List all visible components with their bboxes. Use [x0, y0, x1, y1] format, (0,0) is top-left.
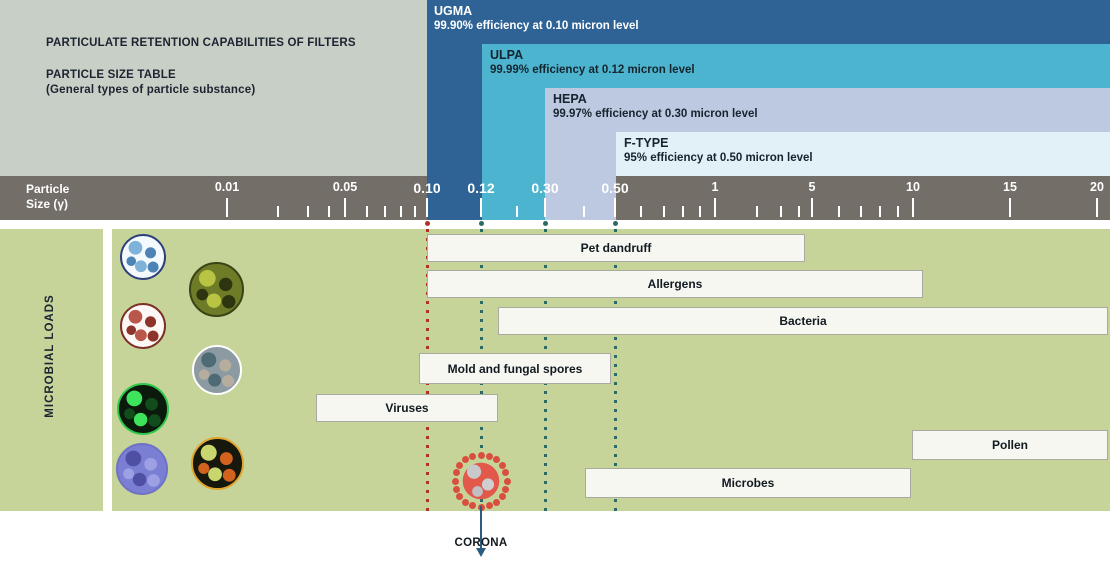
- protozoa-purple-icon: [116, 443, 168, 495]
- bacilli-red-icon: [120, 303, 166, 349]
- microbial-loads-sidebar: MICROBIAL LOADS: [0, 229, 103, 511]
- corona-spike: [462, 499, 469, 506]
- axis-tick-label-1: 1: [712, 180, 719, 194]
- axis-tick-label-0-30: 0.30: [531, 180, 558, 196]
- axis-tick-17: [699, 206, 701, 217]
- axis-segment-3: [616, 176, 1110, 220]
- axis-tick-24: [860, 206, 862, 217]
- axis-tick-30: [226, 198, 228, 217]
- axis-label-line2: Size (γ): [26, 197, 69, 212]
- range-bar-label: Pollen: [992, 438, 1028, 452]
- axis-tick-6: [384, 206, 386, 217]
- axis-tick-36: [714, 198, 716, 217]
- page-subtitle: PARTICLE SIZE TABLE: [46, 68, 416, 83]
- axis-tick-34: [544, 198, 546, 217]
- axis-tick-7: [400, 206, 402, 217]
- axis-tick-1: [277, 206, 279, 217]
- axis-tick-3: [328, 206, 330, 217]
- title-block: PARTICULATE RETENTION CAPABILITIES OF FI…: [46, 36, 416, 98]
- axis-label: Particle Size (γ): [26, 182, 69, 212]
- axis-label-line1: Particle: [26, 182, 69, 197]
- corona-spike: [499, 493, 506, 500]
- corona-spike: [493, 499, 500, 506]
- range-bar-viruses[interactable]: Viruses: [316, 394, 498, 422]
- corona-spike: [478, 452, 485, 459]
- corona-spike: [452, 478, 459, 485]
- corona-spike: [499, 462, 506, 469]
- filter-name-ulpa: ULPA: [490, 48, 1110, 63]
- filter-panel-ftype[interactable]: F-TYPE 95% efficiency at 0.50 micron lev…: [616, 132, 1110, 176]
- range-bar-microbes[interactable]: Microbes: [585, 468, 911, 498]
- virus-green-icon: [117, 383, 169, 435]
- axis-tick-label-0-12: 0.12: [467, 180, 494, 196]
- corona-spike: [486, 453, 493, 460]
- filter-desc-hepa: 99.97% efficiency at 0.30 micron level: [553, 107, 1110, 122]
- range-bar-label: Mold and fungal spores: [448, 362, 583, 376]
- axis-tick-label-0-50: 0.50: [601, 180, 628, 196]
- filter-name-ftype: F-TYPE: [624, 136, 1110, 151]
- range-bar-pollen[interactable]: Pollen: [912, 430, 1108, 460]
- axis-tick-5: [366, 206, 368, 217]
- axis-tick-label-5: 5: [809, 180, 816, 194]
- axis-tick-label-15: 15: [1003, 180, 1017, 194]
- range-bar-pet-dandruff[interactable]: Pet dandruff: [427, 234, 805, 262]
- corona-virus-icon: [452, 452, 510, 510]
- axis-tick-35: [614, 198, 616, 217]
- corona-spike: [453, 486, 460, 493]
- corona-arrow-head: [476, 548, 486, 557]
- bacilli-blue-icon: [120, 234, 166, 280]
- corona-label: CORONA: [455, 537, 508, 549]
- page-subtitle-secondary: (General types of particle substance): [46, 83, 416, 98]
- axis-tick-26: [897, 206, 899, 217]
- axis-gap: [0, 220, 1110, 229]
- filter-desc-ftype: 95% efficiency at 0.50 micron level: [624, 151, 1110, 166]
- axis-tick-label-0-05: 0.05: [333, 180, 357, 194]
- axis-band: Particle Size (γ) 0.010.050.100.120.300.…: [0, 176, 1110, 220]
- axis-tick-20: [780, 206, 782, 217]
- axis-tick-2: [307, 206, 309, 217]
- axis-tick-38: [912, 198, 914, 217]
- range-bar-label: Bacteria: [779, 314, 826, 328]
- axis-tick-label-10: 10: [906, 180, 920, 194]
- mold-gray-icon: [192, 345, 242, 395]
- axis-tick-32: [426, 198, 428, 217]
- range-bar-allergens[interactable]: Allergens: [427, 270, 923, 298]
- axis-tick-31: [344, 198, 346, 217]
- filter-name-hepa: HEPA: [553, 92, 1110, 107]
- axis-tick-10: [516, 206, 518, 217]
- axis-tick-19: [756, 206, 758, 217]
- axis-tick-14: [640, 206, 642, 217]
- axis-tick-label-0-10: 0.10: [413, 180, 440, 196]
- corona-spike: [486, 502, 493, 509]
- axis-tick-15: [663, 206, 665, 217]
- range-bar-mold-and-fungal-spores[interactable]: Mold and fungal spores: [419, 353, 611, 384]
- particle-size-infographic: PARTICULATE RETENTION CAPABILITIES OF FI…: [0, 0, 1110, 566]
- axis-tick-37: [811, 198, 813, 217]
- range-bar-label: Microbes: [722, 476, 775, 490]
- range-bar-label: Allergens: [648, 277, 703, 291]
- axis-tick-40: [1096, 198, 1098, 217]
- pollen-mix-icon: [191, 437, 244, 490]
- filter-name-ugma: UGMA: [434, 4, 1110, 19]
- corona-spike: [502, 486, 509, 493]
- cocci-olive-icon: [189, 262, 244, 317]
- axis-tick-33: [480, 198, 482, 217]
- range-bar-bacteria[interactable]: Bacteria: [498, 307, 1108, 335]
- filter-desc-ulpa: 99.99% efficiency at 0.12 micron level: [490, 63, 1110, 78]
- axis-tick-12: [583, 206, 585, 217]
- reference-dot-0-30: [543, 221, 548, 226]
- axis-tick-label-20: 20: [1090, 180, 1104, 194]
- axis-tick-39: [1009, 198, 1011, 217]
- axis-tick-label-0-01: 0.01: [215, 180, 239, 194]
- page-title: PARTICULATE RETENTION CAPABILITIES OF FI…: [46, 36, 416, 51]
- microbial-loads-label: MICROBIAL LOADS: [44, 246, 56, 466]
- reference-dot-0-12: [479, 221, 484, 226]
- axis-tick-25: [879, 206, 881, 217]
- corona-spike: [504, 478, 511, 485]
- axis-tick-23: [838, 206, 840, 217]
- reference-dot-0-10: [425, 221, 430, 226]
- axis-tick-21: [798, 206, 800, 217]
- range-bar-label: Viruses: [385, 401, 428, 415]
- filter-desc-ugma: 99.90% efficiency at 0.10 micron level: [434, 19, 1110, 34]
- range-bar-label: Pet dandruff: [581, 241, 652, 255]
- axis-tick-8: [414, 206, 416, 217]
- axis-tick-16: [682, 206, 684, 217]
- reference-dot-0-50: [613, 221, 618, 226]
